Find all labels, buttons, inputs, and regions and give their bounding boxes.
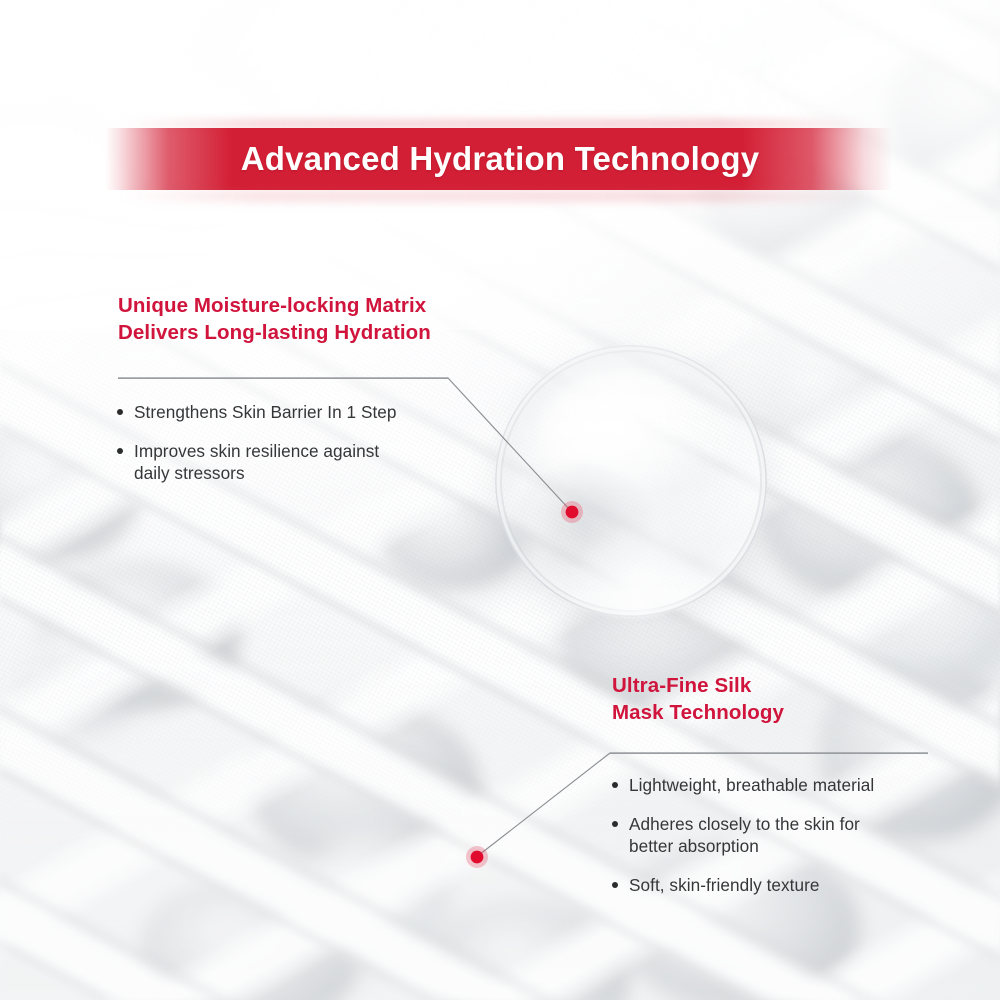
bullet-list-moisture-locking-matrix: Strengthens Skin Barrier In 1 Step Impro… — [116, 402, 456, 484]
list-item: Strengthens Skin Barrier In 1 Step — [116, 402, 456, 423]
heading-line-1: Unique Moisture-locking Matrix — [118, 294, 426, 317]
heading-line-2: Delivers Long-lasting Hydration — [118, 319, 431, 346]
promo-graphic: Advanced Hydration Technology Unique Moi… — [0, 0, 1000, 1000]
bullet-dot-icon — [612, 882, 618, 888]
bullet-text-line-2: daily stressors — [134, 463, 456, 484]
block-heading-ultra-fine-silk-mask: Ultra-Fine Silk Mask Technology — [612, 672, 784, 727]
bullet-text: Improves skin resilience against — [134, 441, 379, 461]
feature-block-moisture-locking-matrix: Unique Moisture-locking Matrix Delivers … — [118, 292, 431, 347]
bullet-dot-icon — [117, 409, 123, 415]
sphere-rim-light — [495, 345, 767, 617]
glass-sphere — [495, 345, 767, 617]
block-divider-rule — [118, 378, 448, 379]
list-item: Soft, skin-friendly texture — [611, 875, 961, 896]
bullet-list-ultra-fine-silk-mask: Lightweight, breathable material Adheres… — [611, 775, 961, 896]
bullet-text: Adheres closely to the skin for — [629, 814, 860, 834]
bullet-dot-icon — [117, 448, 123, 454]
bullet-text: Soft, skin-friendly texture — [629, 875, 820, 895]
bullet-text: Strengthens Skin Barrier In 1 Step — [134, 402, 397, 422]
bullet-text: Lightweight, breathable material — [629, 775, 874, 795]
callout-marker-icon-bottom — [466, 846, 488, 868]
list-item: Improves skin resilience against daily s… — [116, 441, 456, 484]
list-item: Adheres closely to the skin for better a… — [611, 814, 961, 857]
page-title: Advanced Hydration Technology — [0, 128, 1000, 190]
bullet-text-line-2: better absorption — [629, 836, 961, 857]
banner-glow-bottom — [0, 191, 1000, 201]
bullet-dot-icon — [612, 821, 618, 827]
list-item: Lightweight, breathable material — [611, 775, 961, 796]
block-heading-moisture-locking-matrix: Unique Moisture-locking Matrix Delivers … — [118, 292, 431, 347]
bullet-dot-icon — [612, 782, 618, 788]
headline-banner: Advanced Hydration Technology — [0, 128, 1000, 190]
block-divider-rule — [610, 753, 928, 754]
heading-line-1: Ultra-Fine Silk — [612, 674, 751, 697]
feature-block-ultra-fine-silk-mask: Ultra-Fine Silk Mask Technology Lightwei… — [612, 672, 784, 727]
heading-line-2: Mask Technology — [612, 699, 784, 726]
